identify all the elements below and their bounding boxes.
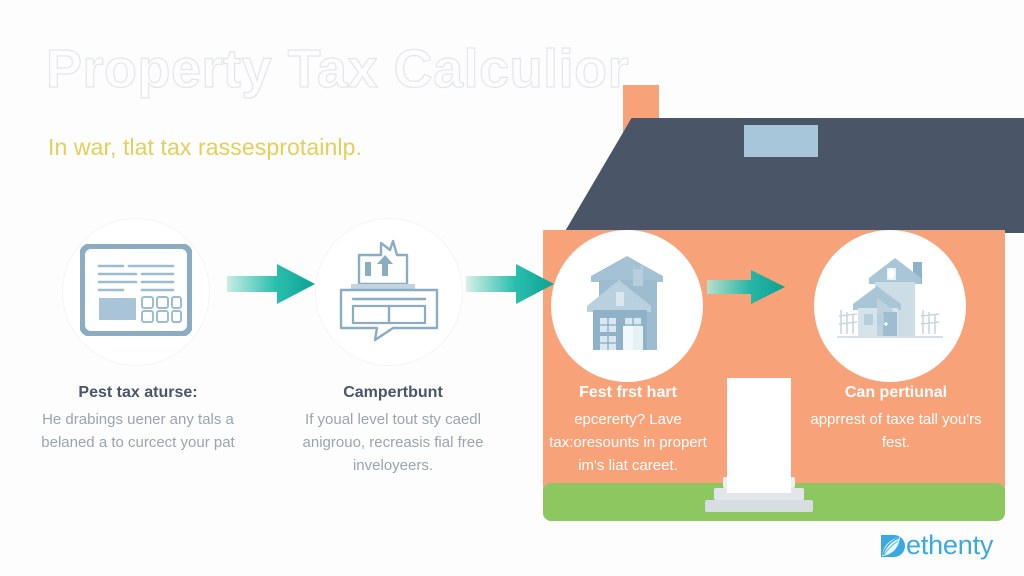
arrow-step-2-to-3: [466, 262, 554, 306]
step-4-icon-circle: [814, 230, 966, 382]
step-1-body: He drabings uener any tals a belaned a t…: [38, 409, 238, 455]
brand-logo[interactable]: ethenty: [878, 532, 993, 559]
step-1-text-block: Pest tax aturse: He drabings uener any t…: [38, 383, 238, 455]
step-2-body: If youal level tout sty caedl anigrouo, …: [293, 409, 493, 477]
chart-upload-speech-bubble-icon: [333, 236, 445, 349]
front-step-bottom: [705, 500, 813, 512]
house-with-fence-icon: [831, 252, 949, 361]
step-3-icon-circle: [551, 230, 703, 382]
step-3-text-block: Fest frst hart epcererty? Lave tax:oreso…: [543, 383, 713, 478]
leaf-circle-logo-mark: [878, 532, 905, 559]
step-2-text-block: Campertbunt If youal level tout sty caed…: [293, 383, 493, 478]
page-title: Property Tax Calculior: [46, 38, 629, 100]
logo-wordmark: ethenty: [906, 532, 993, 559]
step-3-body: epcererty? Lave tax:oresounts in propert…: [543, 409, 713, 477]
step-3-heading: Fest frst hart: [543, 383, 713, 402]
arrow-step-3-to-4: [707, 268, 785, 306]
step-4-text-block: Can pertiunal apprrest of taxe tall you'…: [806, 383, 986, 455]
attic-window-shape: [744, 125, 818, 157]
step-2-heading: Campertbunt: [293, 383, 493, 402]
page-subtitle: In war, tlat tax rassesprotainlp.: [48, 134, 362, 161]
step-4-heading: Can pertiunal: [806, 383, 986, 402]
house-filled-icon: [571, 252, 683, 361]
arrow-step-1-to-2: [227, 262, 315, 306]
step-1-icon-circle: [62, 218, 210, 366]
step-2-icon-circle: [315, 218, 463, 366]
infographic-canvas: Property Tax Calculior In war, tlat tax …: [0, 0, 1024, 576]
step-4-body: apprrest of taxe tall you'rs fest.: [806, 409, 986, 455]
tax-form-document-icon: [80, 244, 192, 341]
step-1-heading: Pest tax aturse:: [38, 383, 238, 402]
door-frame: [727, 378, 791, 493]
